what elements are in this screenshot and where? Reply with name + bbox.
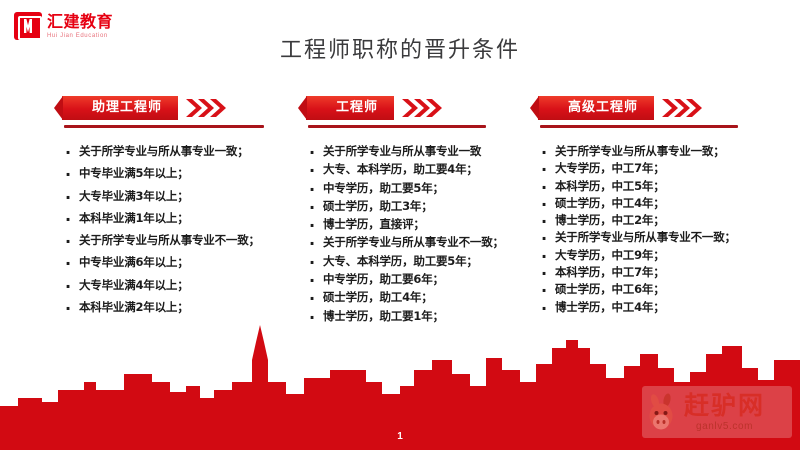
- list-item: 博士学历，中工2年；: [538, 213, 800, 228]
- page-title: 工程师职称的晋升条件: [0, 32, 800, 64]
- list-item: 本科学历，中工5年；: [538, 179, 800, 194]
- logo-name-en: Hui Jian Education: [47, 33, 113, 39]
- brand-logo: 汇建教育 Hui Jian Education: [14, 12, 113, 40]
- list-item: 本科学历，中工7年；: [538, 265, 800, 280]
- watermark-text: 赶驴网 ganlv5.com: [684, 393, 765, 432]
- list-item: 大专毕业满3年以上；: [62, 189, 268, 204]
- column-engineer: 工程师 关于所学专业与所从事专业一致 大专、本科学历，助工要4年； 中专学历，助…: [268, 96, 508, 327]
- list-item: 博士学历，直接评；: [306, 217, 508, 232]
- column-senior-engineer: 高级工程师 关于所学专业与所从事专业一致； 大专学历，中工7年； 本科学历，中工…: [508, 96, 800, 327]
- banner-underline: [64, 125, 264, 128]
- logo-mark-icon: [14, 12, 42, 40]
- list-item: 中专学历，助工要5年；: [306, 181, 508, 196]
- list-item: 博士学历，中工4年；: [538, 300, 800, 315]
- list-item: 本科毕业满2年以上；: [62, 300, 268, 315]
- watermark-name-cn: 赶驴网: [684, 393, 765, 418]
- list-item: 大专学历，中工7年；: [538, 161, 800, 176]
- list-item: 关于所学专业与所从事专业不一致；: [306, 235, 508, 250]
- list-item: 硕士学历，助工3年；: [306, 199, 508, 214]
- list-item: 关于所学专业与所从事专业一致；: [538, 144, 800, 159]
- list-item: 硕士学历，助工4年；: [306, 290, 508, 305]
- logo-name-cn: 汇建教育: [47, 14, 113, 30]
- list-item: 博士学历，助工要1年；: [306, 309, 508, 324]
- list-item: 关于所学专业与所从事专业一致；: [62, 144, 268, 159]
- list-item: 中专毕业满5年以上；: [62, 166, 268, 181]
- column-header: 助理工程师: [62, 96, 268, 130]
- column-banner-label: 高级工程师: [538, 96, 654, 120]
- column-banner-label: 工程师: [306, 96, 394, 120]
- list-item: 大专、本科学历，助工要4年；: [306, 162, 508, 177]
- list-item: 中专学历，助工要6年；: [306, 272, 508, 287]
- list-item: 中专毕业满6年以上；: [62, 255, 268, 270]
- column-banner-label: 助理工程师: [62, 96, 178, 120]
- bullet-list: 关于所学专业与所从事专业一致； 大专学历，中工7年； 本科学历，中工5年； 硕士…: [538, 144, 800, 315]
- list-item: 硕士学历，中工4年；: [538, 196, 800, 211]
- triple-chevron-right-icon: [660, 96, 704, 120]
- banner-underline: [540, 125, 738, 128]
- list-item: 大专毕业满4年以上；: [62, 278, 268, 293]
- column-assistant-engineer: 助理工程师 关于所学专业与所从事专业一致； 中专毕业满5年以上； 大专毕业满3年…: [0, 96, 268, 327]
- watermark: 赶驴网 ganlv5.com: [642, 386, 792, 438]
- column-header: 高级工程师: [538, 96, 800, 130]
- requirements-columns: 助理工程师 关于所学专业与所从事专业一致； 中专毕业满5年以上； 大专毕业满3年…: [0, 96, 800, 327]
- watermark-url: ganlv5.com: [684, 422, 765, 432]
- list-item: 关于所学专业与所从事专业不一致；: [538, 230, 800, 245]
- list-item: 本科毕业满1年以上；: [62, 211, 268, 226]
- column-header: 工程师: [306, 96, 508, 130]
- slide-canvas: 汇建教育 Hui Jian Education 工程师职称的晋升条件 助理工程师…: [0, 0, 800, 450]
- logo-text: 汇建教育 Hui Jian Education: [47, 14, 113, 39]
- list-item: 关于所学专业与所从事专业一致: [306, 144, 508, 159]
- banner-underline: [308, 125, 486, 128]
- list-item: 大专学历，中工9年；: [538, 248, 800, 263]
- list-item: 硕士学历，中工6年；: [538, 282, 800, 297]
- list-item: 大专、本科学历，助工要5年；: [306, 254, 508, 269]
- bullet-list: 关于所学专业与所从事专业一致 大专、本科学历，助工要4年； 中专学历，助工要5年…: [306, 144, 508, 324]
- bullet-list: 关于所学专业与所从事专业一致； 中专毕业满5年以上； 大专毕业满3年以上； 本科…: [62, 144, 268, 315]
- donkey-mascot-icon: [646, 393, 680, 431]
- triple-chevron-right-icon: [184, 96, 228, 120]
- triple-chevron-right-icon: [400, 96, 444, 120]
- list-item: 关于所学专业与所从事专业不一致；: [62, 233, 268, 248]
